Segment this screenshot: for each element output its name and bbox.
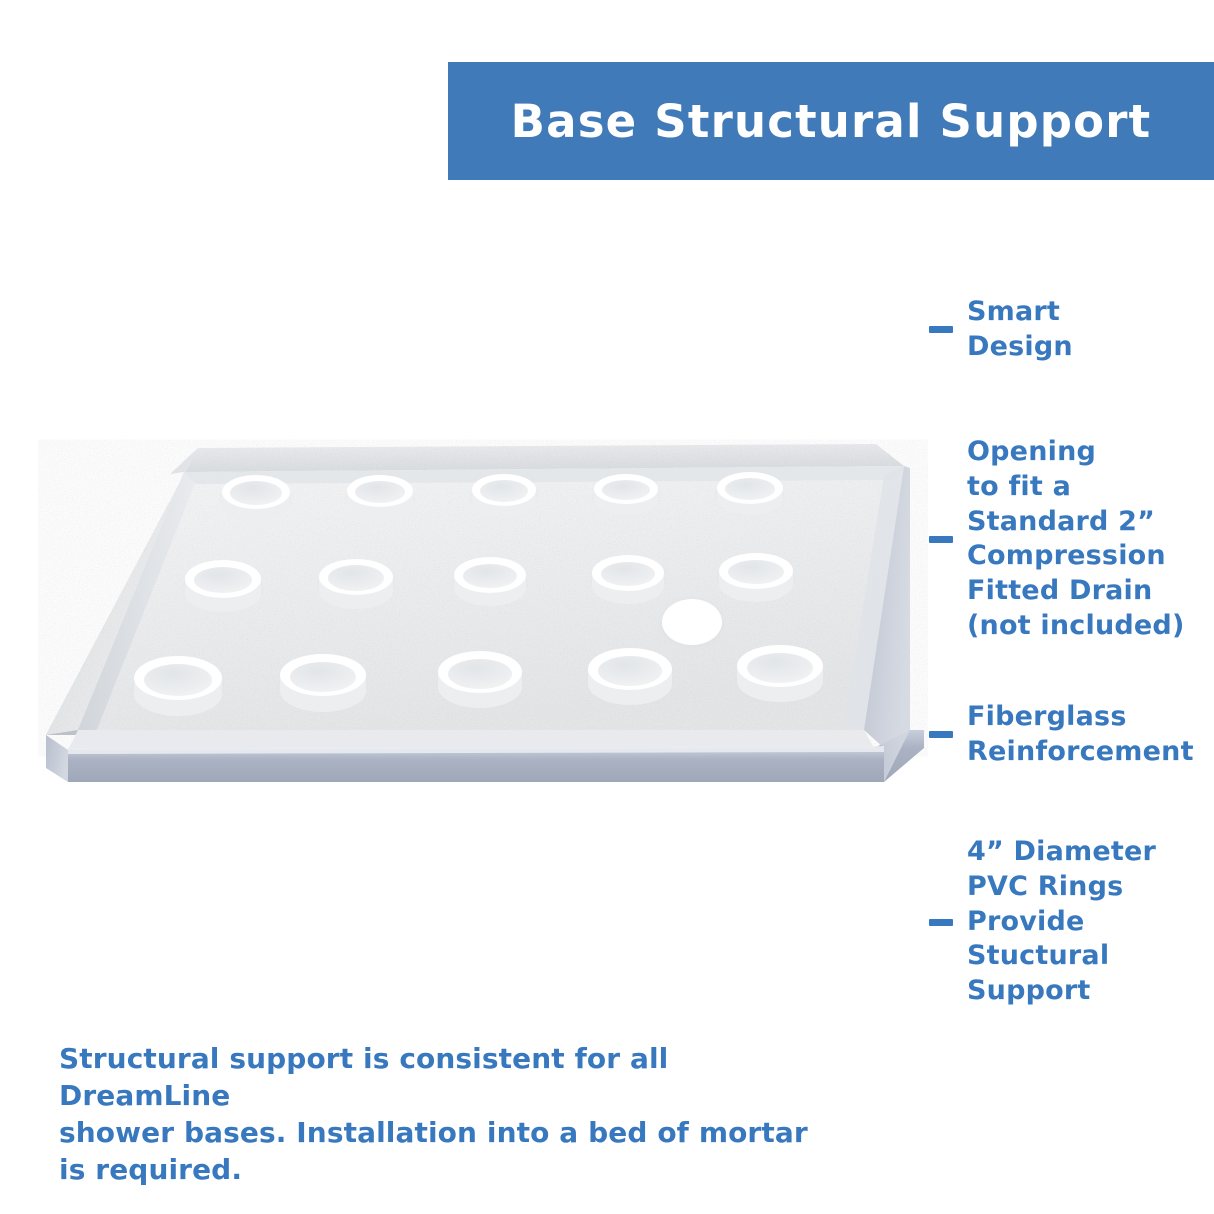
pvc-ring [319, 559, 393, 609]
pvc-ring [185, 560, 261, 612]
shower-base-illustration [38, 430, 928, 820]
pvc-ring [588, 648, 672, 705]
pvc-ring [438, 651, 522, 708]
header-banner: Base Structural Support [448, 62, 1214, 180]
callout-smart-design: Smart Design [929, 295, 1073, 365]
dash-marker-icon [929, 919, 953, 926]
dash-marker-icon [929, 326, 953, 333]
page-title: Base Structural Support [511, 95, 1152, 148]
infographic-page: Base Structural Support [0, 0, 1214, 1214]
callout-drain-opening: Opening to fit a Standard 2” Compression… [929, 435, 1184, 644]
pvc-ring [719, 553, 793, 602]
dash-marker-icon [929, 731, 953, 738]
base-left-corner-edge [46, 735, 68, 782]
bottom-note: Structural support is consistent for all… [59, 1041, 819, 1189]
pvc-ring [134, 656, 222, 716]
callout-label: Fiberglass Reinforcement [967, 700, 1194, 770]
pvc-ring [594, 474, 658, 515]
pvc-ring [592, 555, 664, 604]
pvc-ring [347, 475, 413, 519]
callout-fiberglass-reinforcement: Fiberglass Reinforcement [929, 700, 1194, 770]
shower-base-svg [38, 430, 928, 820]
pvc-ring [717, 472, 783, 515]
dash-marker-icon [929, 536, 953, 543]
drain-opening [660, 598, 724, 648]
pvc-ring [454, 557, 526, 606]
pvc-ring [737, 645, 823, 702]
callout-label: Smart Design [967, 295, 1073, 365]
callout-label: Opening to fit a Standard 2” Compression… [967, 435, 1184, 644]
pvc-ring [280, 654, 366, 712]
callout-pvc-rings: 4” Diameter PVC Rings Provide Stuctural … [929, 835, 1156, 1009]
pvc-ring [472, 474, 536, 517]
pvc-ring [222, 475, 290, 521]
callout-label: 4” Diameter PVC Rings Provide Stuctural … [967, 835, 1156, 1009]
